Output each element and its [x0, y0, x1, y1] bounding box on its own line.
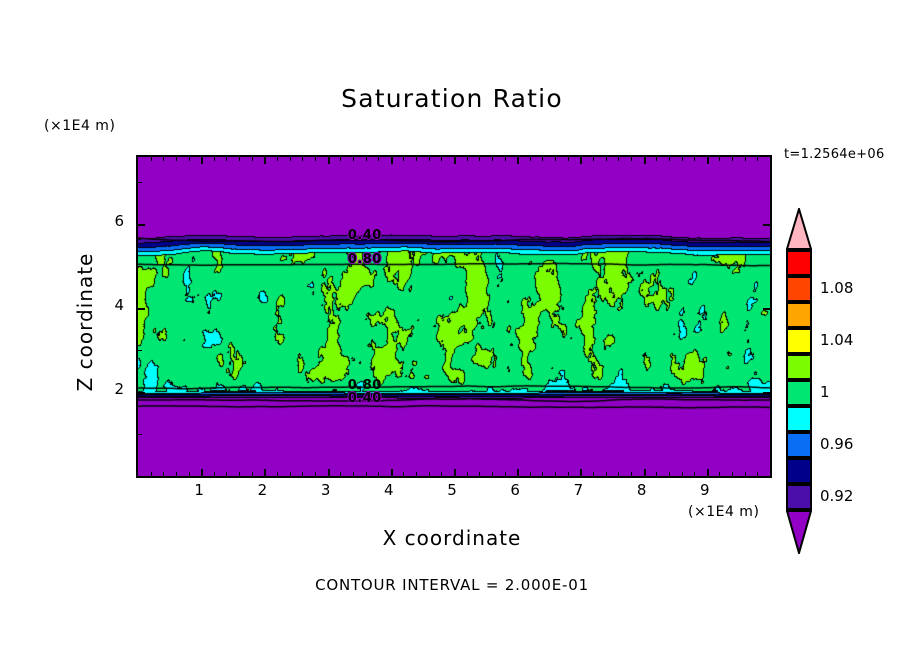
x-axis-minor-tick — [189, 472, 190, 476]
y-axis-tick — [138, 308, 145, 310]
x-axis-minor-tick — [757, 472, 758, 476]
x-axis-minor-tick-top — [593, 157, 594, 161]
x-axis-unit-label: (×1E4 m) — [688, 504, 759, 520]
x-axis-minor-tick — [416, 472, 417, 476]
colorbar-band — [786, 328, 812, 354]
x-axis-minor-tick — [669, 472, 670, 476]
page-title: Saturation Ratio — [0, 84, 904, 113]
x-axis-minor-tick — [479, 472, 480, 476]
x-axis-minor-tick-top — [252, 157, 253, 161]
x-axis-minor-tick-top — [441, 157, 442, 161]
x-axis-minor-tick — [252, 472, 253, 476]
x-axis-minor-tick-top — [732, 157, 733, 161]
x-axis-minor-tick-top — [226, 157, 227, 161]
colorbar-band — [786, 302, 812, 328]
x-axis-minor-tick — [277, 472, 278, 476]
x-axis-tick — [707, 469, 709, 476]
colorbar-tick-label: 1.08 — [820, 279, 853, 297]
y-axis-title: Z coordinate — [73, 222, 97, 422]
x-axis-minor-tick-top — [656, 157, 657, 161]
contour-line-label: 0.40 — [348, 391, 382, 406]
y-axis-tick — [138, 392, 145, 394]
x-axis-minor-tick — [290, 472, 291, 476]
x-axis-minor-tick-top — [189, 157, 190, 161]
x-axis-title: X coordinate — [0, 526, 904, 550]
y-axis-tick — [138, 224, 145, 226]
x-axis-tick-label: 7 — [566, 481, 590, 499]
x-axis-tick-label: 8 — [630, 481, 654, 499]
colorbar-band — [786, 380, 812, 406]
x-axis-minor-tick — [378, 472, 379, 476]
x-axis-minor-tick-top — [366, 157, 367, 161]
x-axis-minor-tick — [732, 472, 733, 476]
x-axis-minor-tick-top — [239, 157, 240, 161]
x-axis-minor-tick — [682, 472, 683, 476]
x-axis-minor-tick-top — [694, 157, 695, 161]
x-axis-tick-top — [264, 157, 266, 164]
x-axis-minor-tick-top — [416, 157, 417, 161]
colorbar-band — [786, 354, 812, 380]
x-axis-minor-tick-top — [719, 157, 720, 161]
y-axis-minor-tick — [138, 434, 142, 435]
x-axis-tick-label: 6 — [503, 481, 527, 499]
y-axis-minor-tick — [138, 266, 142, 267]
x-axis-tick-label: 5 — [440, 481, 464, 499]
x-axis-minor-tick — [315, 472, 316, 476]
x-axis-minor-tick-top — [618, 157, 619, 161]
x-axis-tick — [580, 469, 582, 476]
contour-line-label: 0.40 — [348, 228, 382, 243]
x-axis-tick — [328, 469, 330, 476]
x-axis-minor-tick-top — [542, 157, 543, 161]
x-axis-minor-tick — [226, 472, 227, 476]
x-axis-minor-tick-top — [568, 157, 569, 161]
x-axis-minor-tick — [353, 472, 354, 476]
x-axis-minor-tick — [467, 472, 468, 476]
x-axis-minor-tick — [403, 472, 404, 476]
y-axis-tick-right — [763, 308, 770, 310]
x-axis-tick — [264, 469, 266, 476]
x-axis-minor-tick — [745, 472, 746, 476]
x-axis-minor-tick-top — [606, 157, 607, 161]
x-axis-minor-tick — [631, 472, 632, 476]
x-axis-minor-tick-top — [403, 157, 404, 161]
x-axis-minor-tick-top — [163, 157, 164, 161]
x-axis-minor-tick — [656, 472, 657, 476]
x-axis-minor-tick — [492, 472, 493, 476]
y-axis-minor-tick — [138, 182, 142, 183]
x-axis-tick-top — [391, 157, 393, 164]
x-axis-minor-tick-top — [290, 157, 291, 161]
contour-line-label: 0.80 — [348, 252, 382, 267]
x-axis-minor-tick-top — [176, 157, 177, 161]
x-axis-minor-tick — [302, 472, 303, 476]
x-axis-tick — [644, 469, 646, 476]
x-axis-minor-tick — [340, 472, 341, 476]
x-axis-tick-top — [201, 157, 203, 164]
y-axis-minor-tick — [138, 350, 142, 351]
y-axis-tick-label: 2 — [100, 380, 124, 398]
plot-area — [136, 155, 772, 478]
colorbar-tick-label: 0.92 — [820, 487, 853, 505]
x-axis-tick — [454, 469, 456, 476]
x-axis-minor-tick — [429, 472, 430, 476]
x-axis-tick-top — [328, 157, 330, 164]
y-axis-tick-label: 4 — [100, 296, 124, 314]
x-axis-minor-tick-top — [340, 157, 341, 161]
x-axis-tick-label: 3 — [314, 481, 338, 499]
x-axis-minor-tick — [151, 472, 152, 476]
x-axis-minor-tick — [694, 472, 695, 476]
x-axis-minor-tick — [593, 472, 594, 476]
colorbar-band — [786, 276, 812, 302]
y-axis-tick-label: 6 — [100, 212, 124, 230]
x-axis-minor-tick — [505, 472, 506, 476]
x-axis-tick-label: 1 — [187, 481, 211, 499]
y-axis-tick-right — [763, 224, 770, 226]
x-axis-minor-tick — [568, 472, 569, 476]
x-axis-tick-label: 4 — [377, 481, 401, 499]
colorbar-band — [786, 406, 812, 432]
colorbar-top-arrow — [786, 208, 812, 250]
x-axis-minor-tick-top — [315, 157, 316, 161]
colorbar — [786, 208, 812, 513]
colorbar-bottom-arrow — [786, 510, 812, 554]
x-axis-minor-tick-top — [757, 157, 758, 161]
x-axis-minor-tick — [530, 472, 531, 476]
colorbar-tick-label: 1 — [820, 383, 830, 401]
x-axis-minor-tick-top — [151, 157, 152, 161]
x-axis-tick-label: 2 — [250, 481, 274, 499]
x-axis-minor-tick-top — [631, 157, 632, 161]
colorbar-band — [786, 432, 812, 458]
figure-canvas: Saturation Ratio (×1E4 m) t=1.2564e+06 X… — [0, 0, 904, 654]
colorbar-tick-label: 1.04 — [820, 331, 853, 349]
x-axis-tick — [391, 469, 393, 476]
x-axis-tick-label: 9 — [693, 481, 717, 499]
x-axis-tick-top — [517, 157, 519, 164]
y-axis-tick-right — [763, 392, 770, 394]
x-axis-minor-tick-top — [214, 157, 215, 161]
x-axis-minor-tick — [176, 472, 177, 476]
x-axis-tick-top — [454, 157, 456, 164]
x-axis-minor-tick — [214, 472, 215, 476]
x-axis-minor-tick-top — [669, 157, 670, 161]
colorbar-band — [786, 250, 812, 276]
time-stamp-label: t=1.2564e+06 — [784, 147, 885, 162]
x-axis-minor-tick-top — [745, 157, 746, 161]
x-axis-minor-tick-top — [467, 157, 468, 161]
x-axis-minor-tick-top — [555, 157, 556, 161]
x-axis-minor-tick-top — [492, 157, 493, 161]
colorbar-band — [786, 458, 812, 484]
x-axis-minor-tick — [606, 472, 607, 476]
x-axis-minor-tick-top — [682, 157, 683, 161]
contour-plot-canvas — [138, 157, 770, 476]
x-axis-minor-tick — [163, 472, 164, 476]
contour-interval-caption: CONTOUR INTERVAL = 2.000E-01 — [0, 576, 904, 594]
x-axis-minor-tick — [441, 472, 442, 476]
colorbar-tick-label: 0.96 — [820, 435, 853, 453]
x-axis-tick-top — [707, 157, 709, 164]
x-axis-minor-tick-top — [378, 157, 379, 161]
x-axis-minor-tick-top — [302, 157, 303, 161]
x-axis-tick — [201, 469, 203, 476]
x-axis-tick-top — [644, 157, 646, 164]
x-axis-minor-tick-top — [277, 157, 278, 161]
x-axis-minor-tick — [719, 472, 720, 476]
x-axis-minor-tick-top — [530, 157, 531, 161]
x-axis-tick-top — [580, 157, 582, 164]
x-axis-minor-tick-top — [353, 157, 354, 161]
x-axis-minor-tick — [239, 472, 240, 476]
colorbar-band — [786, 484, 812, 510]
x-axis-minor-tick-top — [429, 157, 430, 161]
x-axis-minor-tick-top — [505, 157, 506, 161]
x-axis-tick — [517, 469, 519, 476]
x-axis-minor-tick-top — [479, 157, 480, 161]
y-axis-unit-label: (×1E4 m) — [44, 118, 115, 134]
x-axis-minor-tick — [366, 472, 367, 476]
x-axis-minor-tick — [618, 472, 619, 476]
x-axis-minor-tick — [555, 472, 556, 476]
x-axis-minor-tick — [542, 472, 543, 476]
